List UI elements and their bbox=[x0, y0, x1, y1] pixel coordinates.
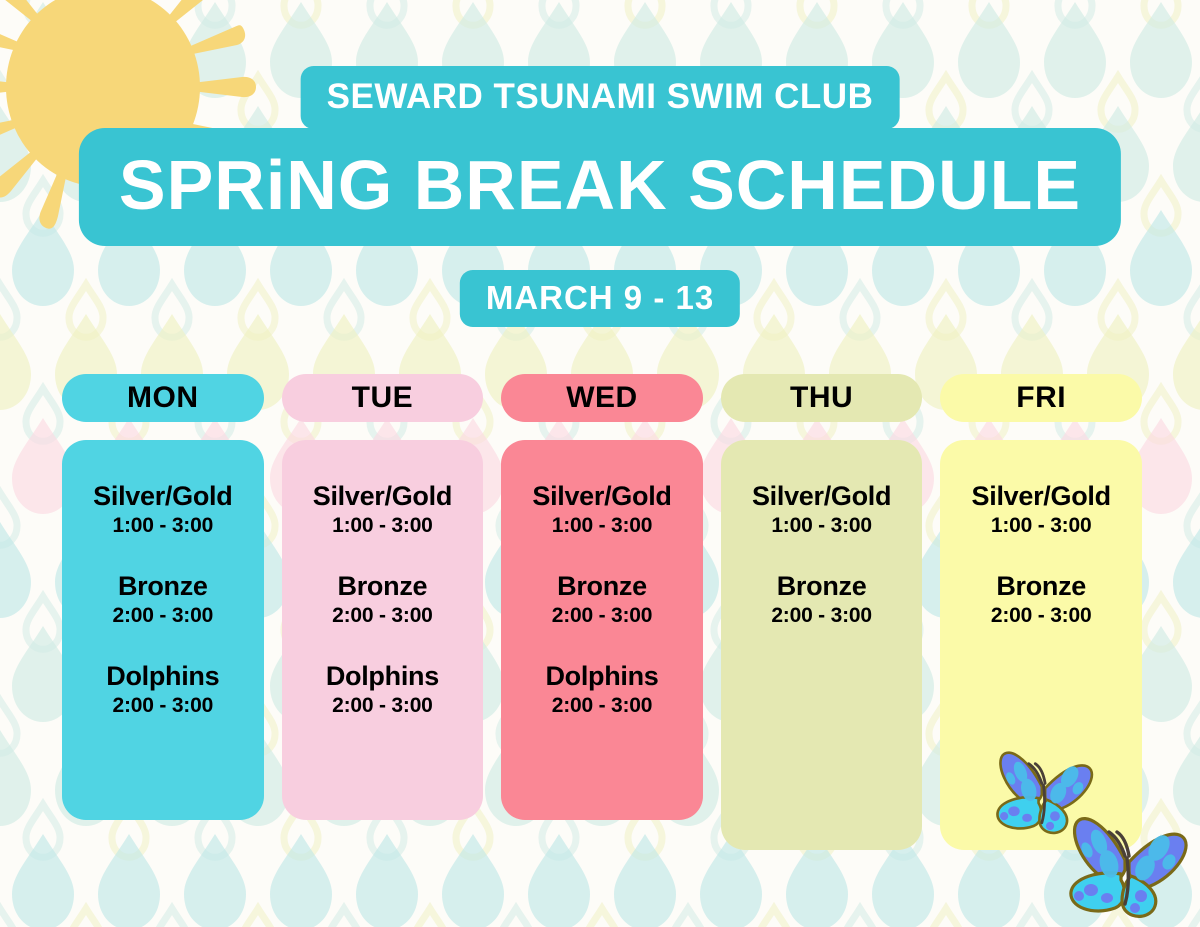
session-time: 2:00 - 3:00 bbox=[70, 600, 256, 632]
session-name: Bronze bbox=[729, 572, 915, 600]
session-entry: Dolphins2:00 - 3:00 bbox=[509, 662, 695, 722]
session-name: Bronze bbox=[70, 572, 256, 600]
day-card-mon: Silver/Gold1:00 - 3:00Bronze2:00 - 3:00D… bbox=[62, 440, 264, 820]
session-entry: Silver/Gold1:00 - 3:00 bbox=[948, 482, 1134, 542]
session-time: 2:00 - 3:00 bbox=[948, 600, 1134, 632]
club-name-banner: SEWARD TSUNAMI SWIM CLUB bbox=[301, 66, 900, 129]
session-name: Silver/Gold bbox=[948, 482, 1134, 510]
day-column-thu: THUSilver/Gold1:00 - 3:00Bronze2:00 - 3:… bbox=[721, 374, 923, 850]
session-time: 1:00 - 3:00 bbox=[948, 510, 1134, 542]
session-entry: Bronze2:00 - 3:00 bbox=[509, 572, 695, 632]
session-entry: Dolphins2:00 - 3:00 bbox=[70, 662, 256, 722]
date-range-banner: MARCH 9 - 13 bbox=[460, 270, 740, 327]
butterfly-decoration-group bbox=[985, 742, 1200, 927]
session-time: 2:00 - 3:00 bbox=[290, 600, 476, 632]
session-time: 2:00 - 3:00 bbox=[509, 690, 695, 722]
day-header-wed: WED bbox=[501, 374, 703, 422]
session-time: 1:00 - 3:00 bbox=[509, 510, 695, 542]
session-name: Bronze bbox=[509, 572, 695, 600]
session-time: 2:00 - 3:00 bbox=[290, 690, 476, 722]
session-entry: Silver/Gold1:00 - 3:00 bbox=[290, 482, 476, 542]
day-header-thu: THU bbox=[721, 374, 923, 422]
session-entry: Bronze2:00 - 3:00 bbox=[948, 572, 1134, 632]
day-header-mon: MON bbox=[62, 374, 264, 422]
session-time: 1:00 - 3:00 bbox=[70, 510, 256, 542]
session-time: 2:00 - 3:00 bbox=[70, 690, 256, 722]
session-name: Dolphins bbox=[509, 662, 695, 690]
page-title: SPRiNG BREAK SCHEDULE bbox=[79, 128, 1121, 246]
session-entry: Dolphins2:00 - 3:00 bbox=[290, 662, 476, 722]
session-entry: Bronze2:00 - 3:00 bbox=[290, 572, 476, 632]
session-name: Bronze bbox=[948, 572, 1134, 600]
day-card-wed: Silver/Gold1:00 - 3:00Bronze2:00 - 3:00D… bbox=[501, 440, 703, 820]
day-header-fri: FRI bbox=[940, 374, 1142, 422]
session-name: Bronze bbox=[290, 572, 476, 600]
session-entry: Bronze2:00 - 3:00 bbox=[70, 572, 256, 632]
session-entry: Silver/Gold1:00 - 3:00 bbox=[509, 482, 695, 542]
session-name: Silver/Gold bbox=[290, 482, 476, 510]
session-name: Dolphins bbox=[290, 662, 476, 690]
schedule-poster: SEWARD TSUNAMI SWIM CLUB SPRiNG BREAK SC… bbox=[0, 0, 1200, 927]
session-time: 2:00 - 3:00 bbox=[509, 600, 695, 632]
weekly-schedule-grid: MONSilver/Gold1:00 - 3:00Bronze2:00 - 3:… bbox=[62, 374, 1142, 850]
session-name: Dolphins bbox=[70, 662, 256, 690]
day-header-tue: TUE bbox=[282, 374, 484, 422]
day-column-tue: TUESilver/Gold1:00 - 3:00Bronze2:00 - 3:… bbox=[282, 374, 484, 850]
day-column-mon: MONSilver/Gold1:00 - 3:00Bronze2:00 - 3:… bbox=[62, 374, 264, 850]
session-name: Silver/Gold bbox=[729, 482, 915, 510]
day-card-tue: Silver/Gold1:00 - 3:00Bronze2:00 - 3:00D… bbox=[282, 440, 484, 820]
session-name: Silver/Gold bbox=[70, 482, 256, 510]
session-entry: Bronze2:00 - 3:00 bbox=[729, 572, 915, 632]
session-entry: Silver/Gold1:00 - 3:00 bbox=[70, 482, 256, 542]
session-name: Silver/Gold bbox=[509, 482, 695, 510]
session-time: 1:00 - 3:00 bbox=[729, 510, 915, 542]
day-card-thu: Silver/Gold1:00 - 3:00Bronze2:00 - 3:00 bbox=[721, 440, 923, 850]
session-time: 2:00 - 3:00 bbox=[729, 600, 915, 632]
butterfly-icon bbox=[1071, 819, 1186, 917]
session-time: 1:00 - 3:00 bbox=[290, 510, 476, 542]
session-entry: Silver/Gold1:00 - 3:00 bbox=[729, 482, 915, 542]
day-column-wed: WEDSilver/Gold1:00 - 3:00Bronze2:00 - 3:… bbox=[501, 374, 703, 850]
